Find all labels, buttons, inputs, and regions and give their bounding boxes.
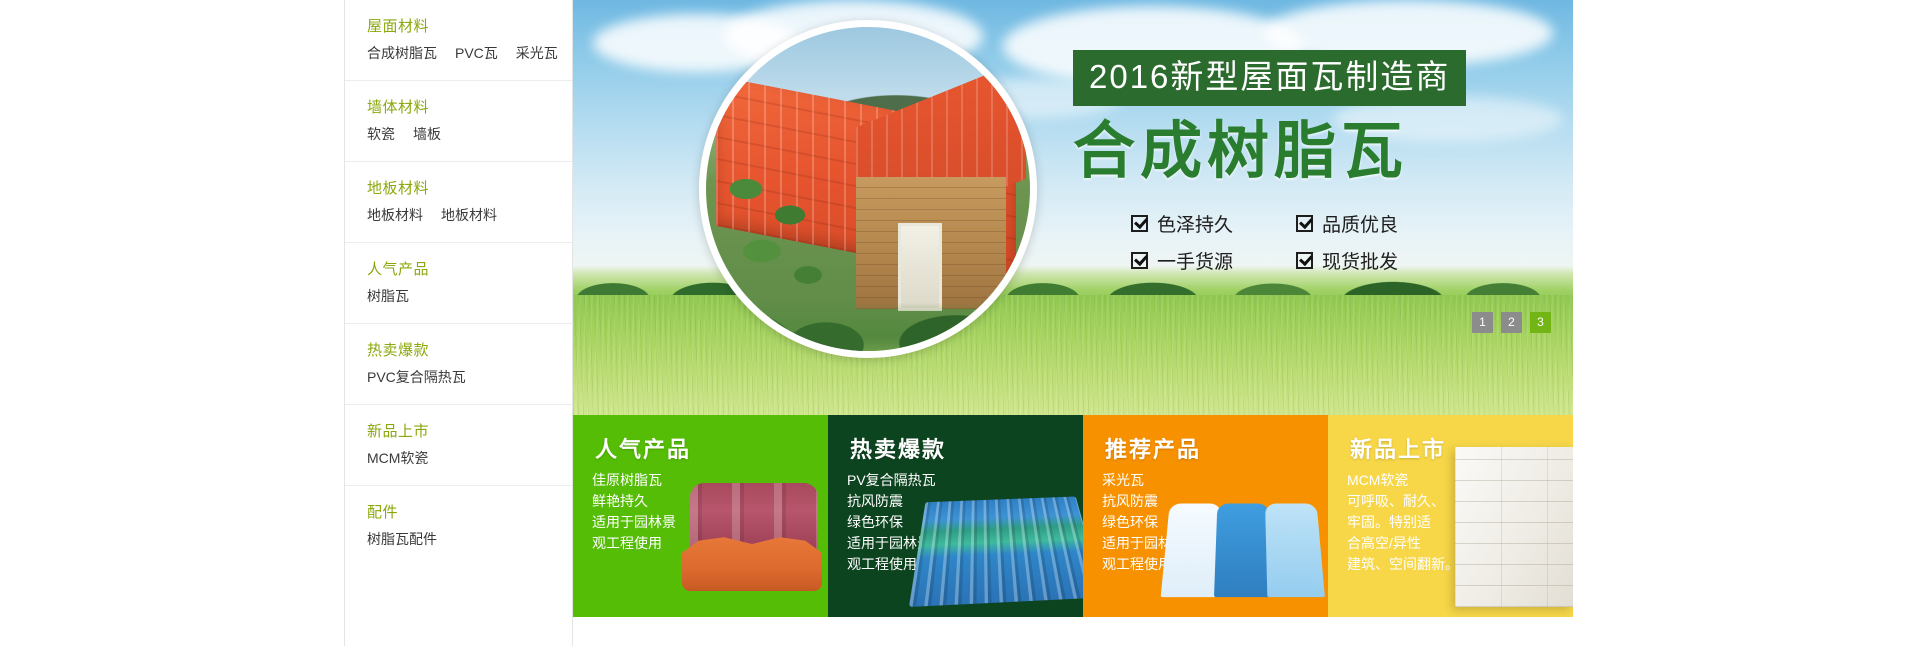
product-panel-popular[interactable]: 人气产品 佳原树脂瓦 鲜艳持久 适用于园林景 观工程使用 bbox=[573, 415, 828, 617]
category-link[interactable]: PVC复合隔热瓦 bbox=[367, 369, 466, 385]
carousel-page-1[interactable]: 1 bbox=[1472, 312, 1493, 333]
panel-line: 观工程使用 bbox=[592, 533, 676, 554]
hero-feature-item: 现货批发 bbox=[1296, 247, 1461, 274]
panel-line: 佳原树脂瓦 bbox=[592, 470, 676, 491]
panel-line: 合高空/异性 bbox=[1347, 533, 1459, 554]
product-panel-recommended[interactable]: 推荐产品 采光瓦 抗风防震 绿色环保 适用于园林景 观工程使用 bbox=[1083, 415, 1328, 617]
category-links: 树脂瓦 bbox=[367, 283, 572, 309]
carousel-page-2[interactable]: 2 bbox=[1501, 312, 1522, 333]
hero-badge: 2016新型屋面瓦制造商 bbox=[1073, 50, 1466, 106]
panel-heading: 新品上市 bbox=[1350, 432, 1446, 464]
category-title: 配件 bbox=[367, 500, 572, 526]
bush-decoration bbox=[706, 243, 1030, 351]
checkmark-icon bbox=[1296, 215, 1313, 232]
panel-heading: 人气产品 bbox=[595, 432, 691, 464]
checkmark-icon bbox=[1131, 215, 1148, 232]
tile-rib-blue bbox=[1214, 503, 1272, 597]
panel-product-image bbox=[909, 496, 1083, 607]
category-block-wall: 墙体材料 软瓷墙板 bbox=[345, 81, 572, 162]
page-root: 屋面材料 合成树脂瓦PVC瓦采光瓦 墙体材料 软瓷墙板 地板材料 地板材料地板材… bbox=[0, 0, 1920, 646]
panel-heading: 热卖爆款 bbox=[850, 432, 946, 464]
panel-description: MCM软瓷 可呼吸、耐久、 牢固。特别适 合高空/异性 建筑、空间翻新。 bbox=[1347, 470, 1459, 575]
category-links: 地板材料地板材料 bbox=[367, 202, 572, 228]
hero-feature-label: 现货批发 bbox=[1322, 247, 1398, 274]
category-block-hot: 热卖爆款 PVC复合隔热瓦 bbox=[345, 324, 572, 405]
category-link[interactable]: 软瓷 bbox=[367, 126, 395, 142]
category-block-roof: 屋面材料 合成树脂瓦PVC瓦采光瓦 bbox=[345, 0, 572, 81]
carousel-pagination[interactable]: 1 2 3 bbox=[1472, 312, 1551, 333]
category-links: PVC复合隔热瓦 bbox=[367, 364, 572, 390]
panel-line: 可呼吸、耐久、 bbox=[1347, 491, 1459, 512]
category-link[interactable]: MCM软瓷 bbox=[367, 450, 428, 466]
hero-feature-item: 色泽持久 bbox=[1131, 210, 1296, 237]
hero-feature-item: 品质优良 bbox=[1296, 210, 1461, 237]
hero-text-block: 2016新型屋面瓦制造商 合成树脂瓦 色泽持久 品质优良 一手货源 现货批发 bbox=[1073, 50, 1553, 274]
category-links: 合成树脂瓦PVC瓦采光瓦 bbox=[367, 40, 572, 66]
category-link[interactable]: 地板材料 bbox=[441, 207, 497, 223]
category-links: 树脂瓦配件 bbox=[367, 526, 572, 552]
category-link[interactable]: PVC瓦 bbox=[455, 45, 498, 61]
checkmark-icon bbox=[1296, 252, 1313, 269]
category-link[interactable]: 合成树脂瓦 bbox=[367, 45, 437, 61]
panel-heading: 推荐产品 bbox=[1105, 432, 1201, 464]
panel-product-image bbox=[1161, 493, 1328, 597]
panel-line: 抗风防震 bbox=[847, 491, 936, 512]
tile-rib-white bbox=[1161, 503, 1222, 597]
panel-product-image bbox=[682, 483, 822, 595]
category-links: MCM软瓷 bbox=[367, 445, 572, 471]
category-links: 软瓷墙板 bbox=[367, 121, 572, 147]
panel-line: PV复合隔热瓦 bbox=[847, 470, 936, 491]
carousel-page-3[interactable]: 3 bbox=[1530, 312, 1551, 333]
panel-line: 牢固。特别适 bbox=[1347, 512, 1459, 533]
tile-rib-light bbox=[1265, 503, 1325, 597]
panel-line: 建筑、空间翻新。 bbox=[1347, 554, 1459, 575]
product-panel-new[interactable]: 新品上市 MCM软瓷 可呼吸、耐久、 牢固。特别适 合高空/异性 建筑、空间翻新… bbox=[1328, 415, 1573, 617]
category-title: 地板材料 bbox=[367, 176, 572, 202]
hero-product-photo bbox=[699, 20, 1037, 358]
hero-feature-label: 色泽持久 bbox=[1157, 210, 1233, 237]
category-block-popular: 人气产品 树脂瓦 bbox=[345, 243, 572, 324]
hero-feature-item: 一手货源 bbox=[1131, 247, 1296, 274]
category-block-accessories: 配件 树脂瓦配件 bbox=[345, 486, 572, 566]
panel-line: MCM软瓷 bbox=[1347, 470, 1459, 491]
category-link[interactable]: 树脂瓦 bbox=[367, 288, 409, 304]
checkmark-icon bbox=[1131, 252, 1148, 269]
hero-banner[interactable]: 2016新型屋面瓦制造商 合成树脂瓦 色泽持久 品质优良 一手货源 现货批发 bbox=[573, 0, 1573, 415]
panel-line: 鲜艳持久 bbox=[592, 491, 676, 512]
category-link[interactable]: 树脂瓦配件 bbox=[367, 531, 437, 547]
category-link[interactable]: 采光瓦 bbox=[516, 45, 558, 61]
category-title: 人气产品 bbox=[367, 257, 572, 283]
product-panel-hot[interactable]: 热卖爆款 PV复合隔热瓦 抗风防震 绿色环保 适用于园林景 观工程使用 bbox=[828, 415, 1083, 617]
panel-line: 采光瓦 bbox=[1102, 470, 1186, 491]
category-block-new: 新品上市 MCM软瓷 bbox=[345, 405, 572, 486]
category-title: 新品上市 bbox=[367, 419, 572, 445]
category-link[interactable]: 地板材料 bbox=[367, 207, 423, 223]
hero-feature-label: 品质优良 bbox=[1322, 210, 1398, 237]
category-title: 墙体材料 bbox=[367, 95, 572, 121]
panel-line: 适用于园林景 bbox=[592, 512, 676, 533]
category-link[interactable]: 墙板 bbox=[413, 126, 441, 142]
hero-feature-list: 色泽持久 品质优良 一手货源 现货批发 bbox=[1131, 210, 1553, 274]
hero-title: 合成树脂瓦 bbox=[1073, 119, 1553, 186]
category-block-floor: 地板材料 地板材料地板材料 bbox=[345, 162, 572, 243]
category-title: 屋面材料 bbox=[367, 14, 572, 40]
panel-description: 佳原树脂瓦 鲜艳持久 适用于园林景 观工程使用 bbox=[592, 470, 676, 554]
panel-product-image bbox=[1455, 447, 1573, 607]
category-title: 热卖爆款 bbox=[367, 338, 572, 364]
category-sidebar: 屋面材料 合成树脂瓦PVC瓦采光瓦 墙体材料 软瓷墙板 地板材料 地板材料地板材… bbox=[344, 0, 573, 646]
product-panel-row: 人气产品 佳原树脂瓦 鲜艳持久 适用于园林景 观工程使用 热卖爆款 PV复合隔热… bbox=[573, 415, 1573, 617]
hero-feature-label: 一手货源 bbox=[1157, 247, 1233, 274]
